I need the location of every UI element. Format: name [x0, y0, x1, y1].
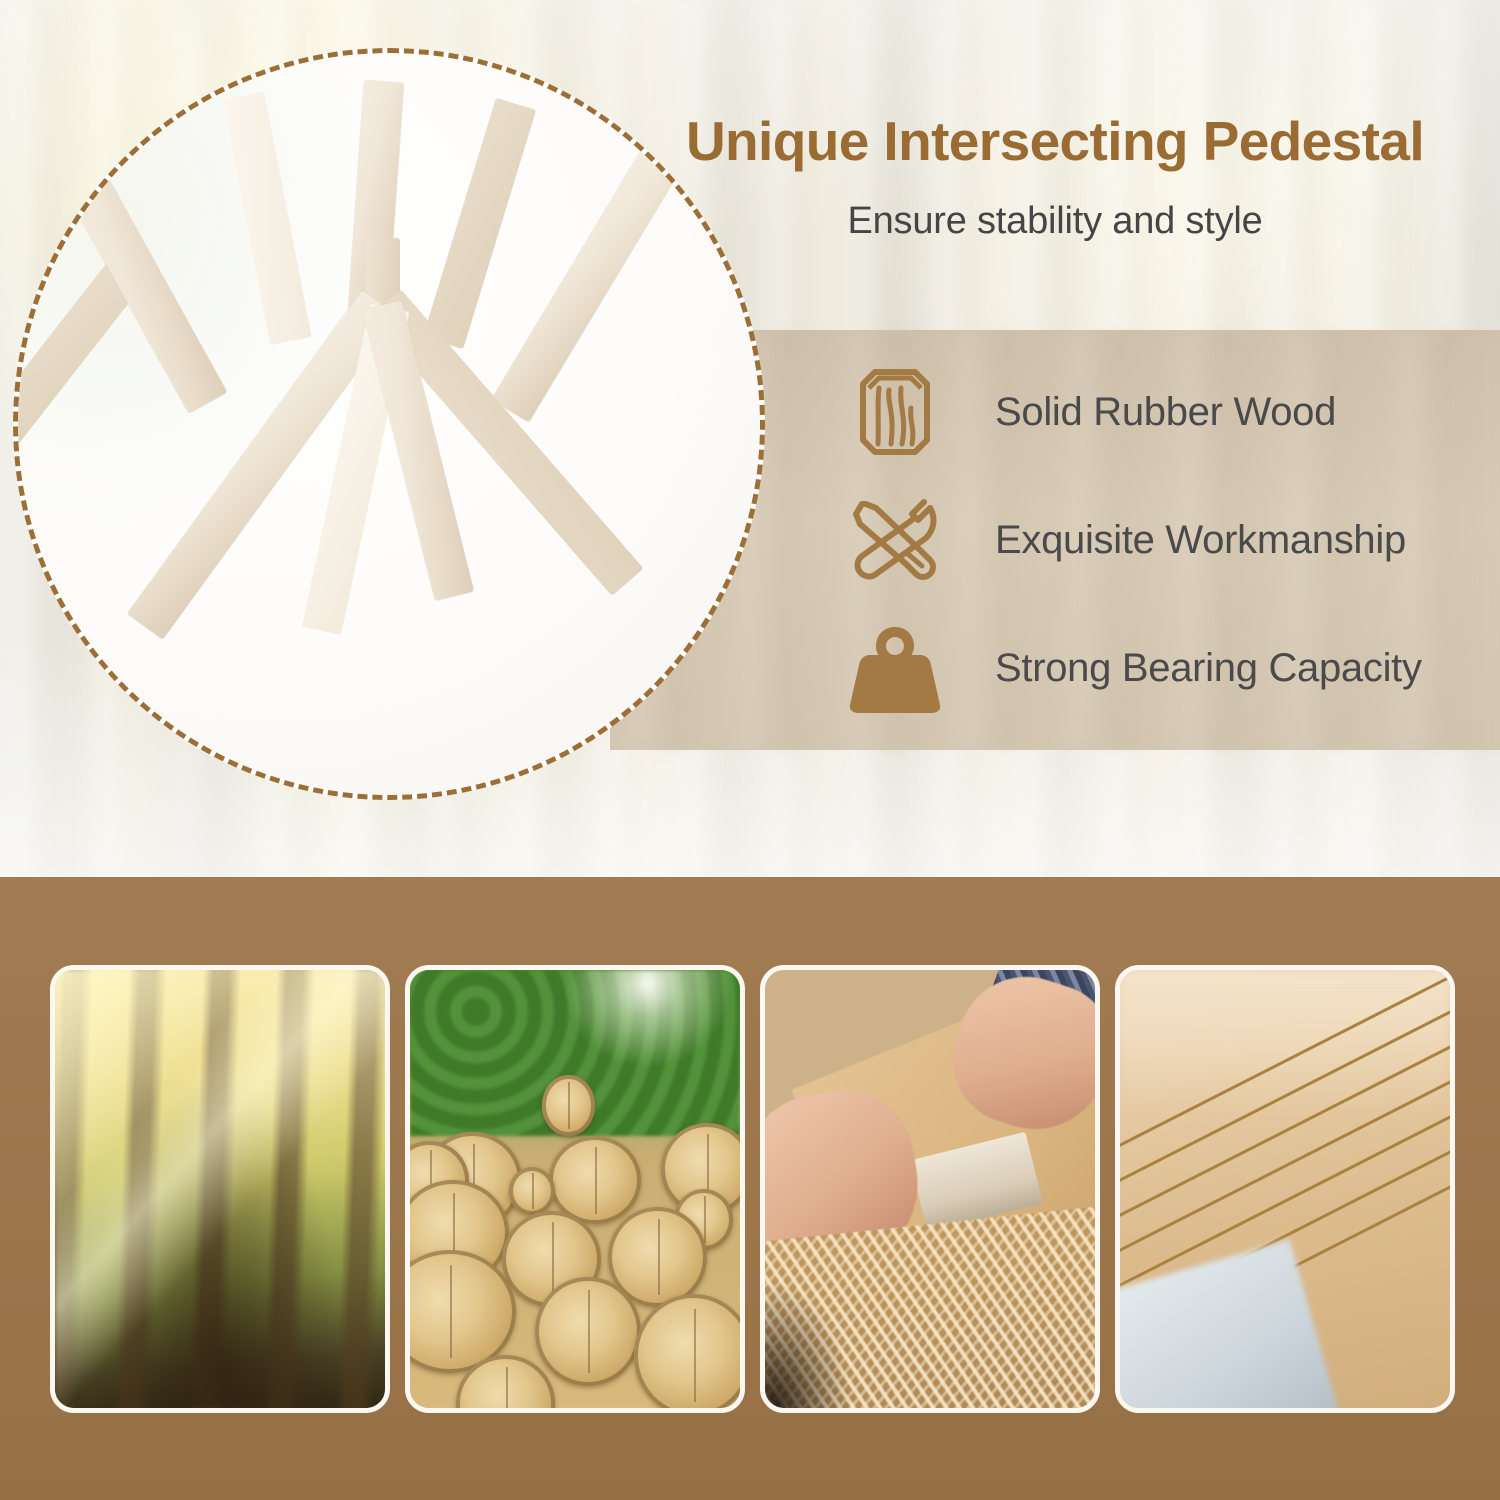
- tools-icon: [840, 485, 950, 595]
- circle-light-wash: [18, 53, 389, 535]
- top-feature-section: Unique Intersecting Pedestal Ensure stab…: [0, 0, 1500, 877]
- stacked-logs-photo: [410, 970, 740, 1408]
- feature-item-exquisite-workmanship: Exquisite Workmanship: [840, 480, 1480, 600]
- gallery-photo-wood-planks: [1115, 965, 1455, 1413]
- log: [535, 1277, 641, 1387]
- wood-planks-photo: [1120, 970, 1450, 1408]
- wood-plank-icon: [840, 357, 950, 467]
- feature-item-strong-bearing-capacity: Strong Bearing Capacity: [840, 608, 1480, 728]
- log: [542, 1075, 595, 1136]
- pedestal-leg-6: [491, 151, 678, 422]
- feature-label: Solid Rubber Wood: [995, 390, 1336, 435]
- page-title: Unique Intersecting Pedestal: [620, 113, 1490, 171]
- gallery-photo-stacked-logs: [405, 965, 745, 1413]
- gallery-photo-sunlit-forest: [50, 965, 390, 1413]
- product-feature-page: Unique Intersecting Pedestal Ensure stab…: [0, 0, 1500, 1500]
- gallery-photo-sanding-wood: [760, 965, 1100, 1413]
- sanding-wood-photo: [765, 970, 1095, 1408]
- page-subtitle: Ensure stability and style: [620, 200, 1490, 243]
- feature-label: Exquisite Workmanship: [995, 518, 1406, 563]
- log: [549, 1136, 641, 1224]
- log: [634, 1294, 740, 1408]
- shadow-corner: [765, 1285, 851, 1408]
- wood-sourcing-gallery-section: [0, 877, 1500, 1500]
- weight-icon: [840, 613, 950, 723]
- sunlit-forest-photo: [55, 970, 385, 1408]
- pedestal-leg-5: [423, 98, 536, 349]
- feature-item-solid-rubber-wood: Solid Rubber Wood: [840, 352, 1480, 472]
- feature-label: Strong Bearing Capacity: [995, 646, 1422, 691]
- log: [509, 1167, 555, 1215]
